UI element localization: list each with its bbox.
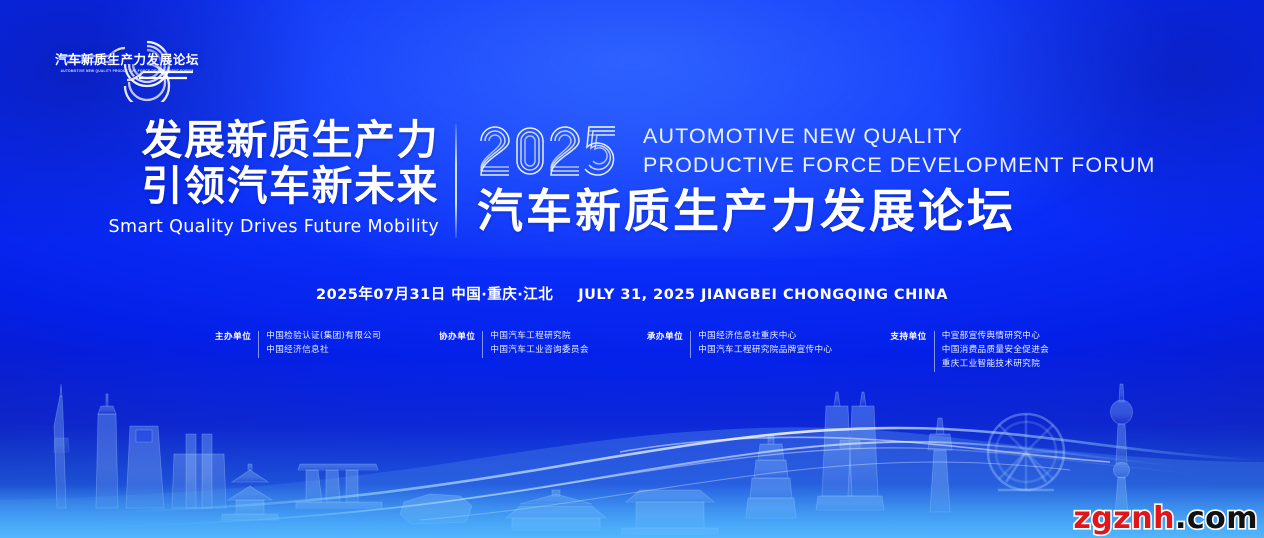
sponsor-item: 中国消费品质量安全促进会: [942, 344, 1049, 358]
sponsor-section: 主办单位 中国检验认证(集团)有限公司 中国经济信息社 协办单位 中国汽车工程研…: [0, 330, 1264, 372]
sponsor-divider: [934, 331, 935, 372]
sponsor-items: 中宣部宣传舆情研究中心 中国消费品质量安全促进会 重庆工业智能技术研究院: [942, 330, 1049, 372]
dateline-en: JULY 31, 2025 JIANGBEI CHONGQING CHINA: [578, 287, 948, 303]
sponsor-label: 承办单位: [647, 330, 683, 344]
sponsor-item: 中国检验认证(集团)有限公司: [266, 330, 381, 344]
sponsor-group-host: 主办单位 中国检验认证(集团)有限公司 中国经济信息社: [215, 330, 381, 358]
headline-en-lines: AUTOMOTIVE NEW QUALITY PRODUCTIVE FORCE …: [643, 120, 1155, 179]
headline-en-line1: AUTOMOTIVE NEW QUALITY: [643, 122, 1155, 151]
sponsor-items: 中国检验认证(集团)有限公司 中国经济信息社: [266, 330, 381, 358]
dateline-cn: 2025年07月31日 中国·重庆·江北: [316, 287, 553, 303]
sponsor-item: 中国汽车工业咨询委员会: [490, 344, 588, 358]
headline-block: 发展新质生产力 引领汽车新未来 Smart Quality Drives Fut…: [0, 118, 1264, 238]
watermark-name: zgznh: [1073, 501, 1175, 536]
sponsor-item: 中国汽车工程研究院品牌宣传中心: [698, 344, 832, 358]
headline-cn-title: 汽车新质生产力发展论坛: [477, 184, 1155, 238]
sponsor-item: 重庆工业智能技术研究院: [942, 358, 1049, 372]
sponsor-label: 协办单位: [439, 330, 475, 344]
sponsor-divider: [690, 331, 691, 358]
headline-tagline: Smart Quality Drives Future Mobility: [109, 217, 440, 237]
sponsor-group-co-host: 协办单位 中国汽车工程研究院 中国汽车工业咨询委员会: [439, 330, 589, 358]
poster-canvas: 汽车新质生产力发展论坛 AUTOMOTIVE NEW QUALITY PRODU…: [0, 0, 1264, 538]
sponsor-group-organizer: 承办单位 中国经济信息社重庆中心 中国汽车工程研究院品牌宣传中心: [647, 330, 833, 358]
sponsor-item: 中国汽车工程研究院: [490, 330, 588, 344]
year-2025: [477, 121, 629, 181]
sponsor-item: 中国经济信息社: [266, 344, 381, 358]
sponsor-label: 主办单位: [215, 330, 251, 344]
event-dateline: 2025年07月31日 中国·重庆·江北 JULY 31, 2025 JIANG…: [0, 283, 1264, 304]
headline-cn-line2: 引领汽车新未来: [109, 164, 440, 210]
sponsor-item: 中宣部宣传舆情研究中心: [942, 330, 1049, 344]
headline-cn-line1: 发展新质生产力: [109, 118, 440, 164]
sponsor-items: 中国汽车工程研究院 中国汽车工业咨询委员会: [490, 330, 588, 358]
sponsor-group-supporter: 支持单位 中宣部宣传舆情研究中心 中国消费品质量安全促进会 重庆工业智能技术研究…: [890, 330, 1049, 372]
headline-en-line2: PRODUCTIVE FORCE DEVELOPMENT FORUM: [643, 151, 1155, 180]
forum-logo: 汽车新质生产力发展论坛 AUTOMOTIVE NEW QUALITY PRODU…: [47, 26, 207, 102]
digit-2b: [551, 127, 579, 175]
year-outline-graphic: [477, 121, 629, 181]
logo-en-text: AUTOMOTIVE NEW QUALITY PRODUCTIVE FORCE …: [47, 69, 206, 73]
headline-left: 发展新质生产力 引领汽车新未来 Smart Quality Drives Fut…: [109, 118, 458, 237]
digit-0: [517, 128, 543, 174]
watermark-tld: .com: [1175, 501, 1258, 536]
digit-2a: [481, 127, 509, 175]
headline-right: AUTOMOTIVE NEW QUALITY PRODUCTIVE FORCE …: [457, 118, 1155, 238]
sponsor-divider: [482, 331, 483, 358]
digit-5: [585, 127, 615, 175]
sponsor-items: 中国经济信息社重庆中心 中国汽车工程研究院品牌宣传中心: [698, 330, 832, 358]
sponsor-divider: [258, 331, 259, 358]
site-watermark: zgznh.com: [1073, 504, 1258, 534]
logo-cn-text: 汽车新质生产力发展论坛: [49, 54, 205, 67]
sponsor-item: 中国经济信息社重庆中心: [698, 330, 832, 344]
sponsor-label: 支持单位: [890, 330, 926, 344]
